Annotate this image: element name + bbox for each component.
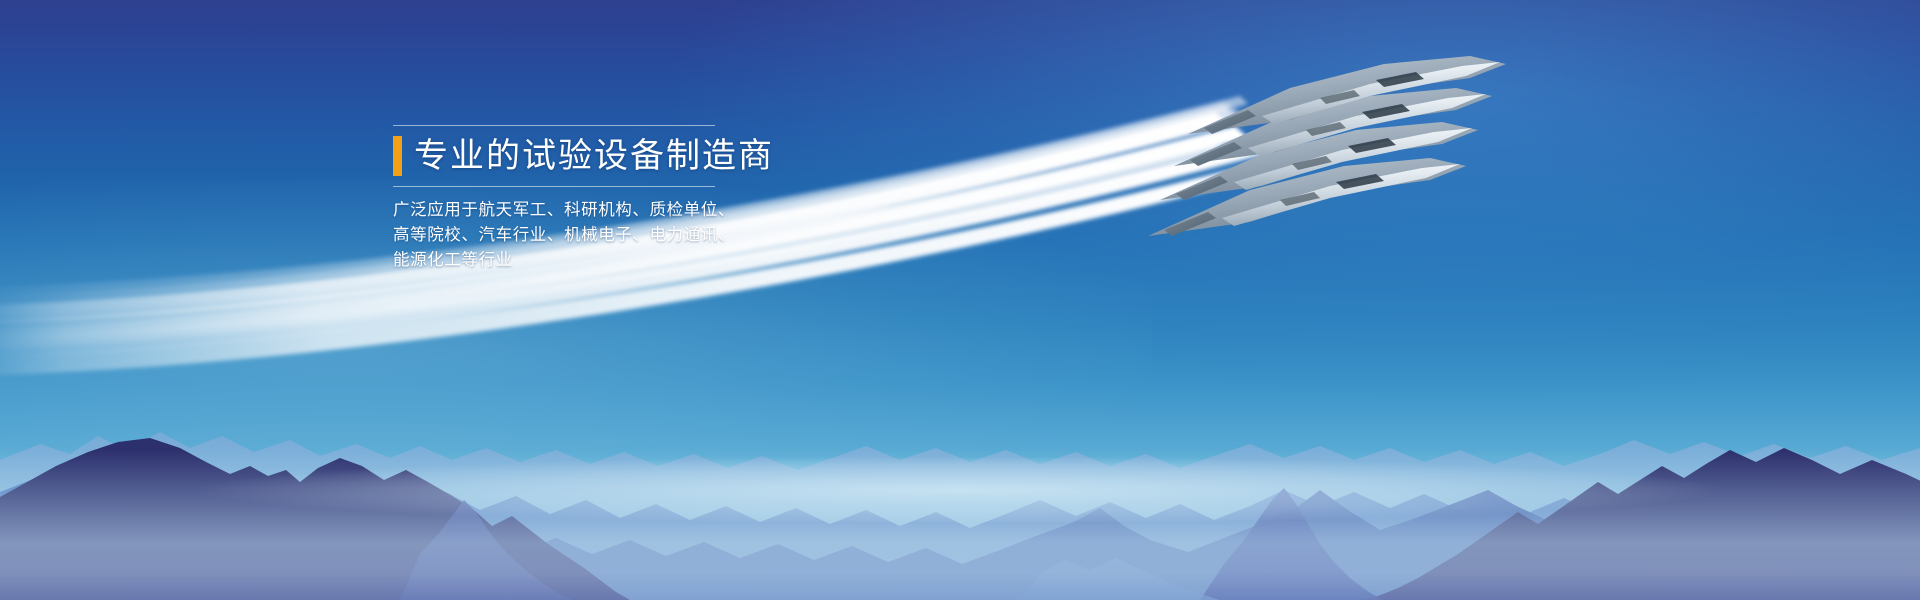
subtitle-line-2: 高等院校、汽车行业、机械电子、电力通讯、 — [393, 223, 813, 248]
page-title: 专业的试验设备制造商 — [414, 139, 774, 173]
subtitle-line-1: 广泛应用于航天军工、科研机构、质检单位、 — [393, 198, 813, 223]
mountain-range — [0, 340, 1920, 600]
hero-banner: 专业的试验设备制造商 广泛应用于航天军工、科研机构、质检单位、 高等院校、汽车行… — [0, 0, 1920, 600]
accent-bar — [393, 136, 402, 176]
banner-text-block: 专业的试验设备制造商 广泛应用于航天军工、科研机构、质检单位、 高等院校、汽车行… — [393, 125, 813, 273]
headline-row: 专业的试验设备制造商 — [393, 126, 813, 186]
headline-bottom-rule — [393, 186, 715, 187]
jet-formation — [1130, 40, 1510, 270]
subtitle-line-3: 能源化工等行业 — [393, 248, 813, 273]
banner-subtitle: 广泛应用于航天军工、科研机构、质检单位、 高等院校、汽车行业、机械电子、电力通讯… — [393, 198, 813, 273]
